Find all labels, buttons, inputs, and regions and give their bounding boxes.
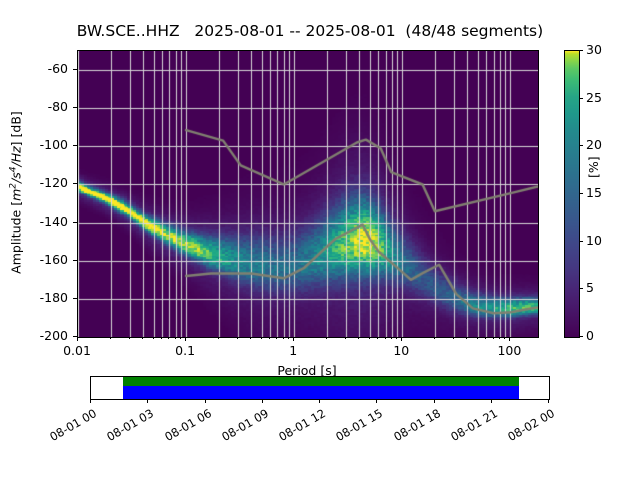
x-axis-major-tick: [185, 337, 186, 341]
timeline-tick-label: 08-01 18: [382, 406, 443, 449]
timeline-tick-mark: [147, 399, 148, 403]
colorbar-tick-mark: [579, 50, 583, 51]
timeline-tick-mark: [548, 399, 549, 403]
timeline-tick-mark: [205, 399, 206, 403]
y-axis-tick-mark: [73, 260, 77, 261]
timeline-tick-label: 08-01 03: [96, 406, 157, 449]
colorbar-tick-mark: [579, 336, 583, 337]
x-axis-minor-tick: [237, 337, 238, 339]
x-axis-major-tick: [293, 337, 294, 341]
timeline-tick-label: 08-01 06: [153, 406, 214, 449]
x-axis-tick-label: 0.1: [145, 343, 225, 358]
x-axis-minor-tick: [377, 337, 378, 339]
y-axis-tick-label: -60: [0, 61, 68, 76]
timeline-tick-label: 08-02 00: [496, 406, 557, 449]
x-axis-minor-tick: [153, 337, 154, 339]
data-coverage-timeline: [90, 376, 550, 400]
colorbar-tick-label: 20: [586, 137, 602, 152]
x-axis-tick-label: 10: [361, 343, 441, 358]
x-axis-minor-tick: [466, 337, 467, 339]
x-axis-minor-tick: [434, 337, 435, 339]
x-axis-major-tick: [77, 337, 78, 341]
x-axis-minor-tick: [453, 337, 454, 339]
y-axis-tick-mark: [73, 222, 77, 223]
x-axis-minor-tick: [269, 337, 270, 339]
x-axis-minor-tick: [168, 337, 169, 339]
timeline-band-blue: [123, 386, 519, 399]
colorbar-tick-mark: [579, 288, 583, 289]
x-axis-minor-tick: [358, 337, 359, 339]
colorbar: [564, 50, 580, 338]
colorbar-tick-mark: [579, 98, 583, 99]
timeline-tick-mark: [90, 399, 91, 403]
timeline-tick-label: 08-01 00: [38, 406, 99, 449]
x-axis-minor-tick: [218, 337, 219, 339]
colorbar-tick-label: 30: [586, 42, 602, 57]
x-axis-minor-tick: [261, 337, 262, 339]
timeline-tick-label: 08-01 12: [267, 406, 328, 449]
x-axis-minor-tick: [369, 337, 370, 339]
x-axis-minor-tick: [504, 337, 505, 339]
x-axis-tick-label: 1: [253, 343, 333, 358]
colorbar-tick-mark: [579, 241, 583, 242]
timeline-tick-mark: [319, 399, 320, 403]
timeline-band-green: [123, 377, 519, 386]
y-axis-tick-mark: [73, 69, 77, 70]
x-axis-minor-tick: [499, 337, 500, 339]
x-axis-minor-tick: [385, 337, 386, 339]
colorbar-tick-label: 5: [586, 280, 594, 295]
x-axis-major-tick: [401, 337, 402, 341]
timeline-tick-label: 08-01 15: [325, 406, 386, 449]
colorbar-tick-label: 0: [586, 328, 594, 343]
y-axis-tick-mark: [73, 107, 77, 108]
x-axis-minor-tick: [142, 337, 143, 339]
x-axis-minor-tick: [161, 337, 162, 339]
timeline-tick-label: 08-01 09: [210, 406, 271, 449]
y-axis-tick-label: -200: [0, 328, 68, 343]
y-axis-tick-mark: [73, 298, 77, 299]
page-title: BW.SCE..HHZ 2025-08-01 -- 2025-08-01 (48…: [0, 22, 620, 40]
x-axis-minor-tick: [180, 337, 181, 339]
ppsd-plot-area: [77, 50, 539, 338]
x-axis-minor-tick: [288, 337, 289, 339]
x-axis-minor-tick: [326, 337, 327, 339]
x-axis-minor-tick: [283, 337, 284, 339]
colorbar-label: [%]: [586, 156, 601, 178]
x-axis-minor-tick: [129, 337, 130, 339]
y-axis-tick-mark: [73, 145, 77, 146]
colorbar-tick-label: 15: [586, 185, 602, 200]
colorbar-tick-mark: [579, 193, 583, 194]
y-axis-label: Amplitude [m2/s4/Hz] [dB]: [9, 83, 24, 303]
y-axis-tick-mark: [73, 183, 77, 184]
x-axis-minor-tick: [276, 337, 277, 339]
x-axis-minor-tick: [477, 337, 478, 339]
timeline-tick-mark: [262, 399, 263, 403]
x-axis-minor-tick: [110, 337, 111, 339]
x-axis-minor-tick: [485, 337, 486, 339]
timeline-tick-label: 08-01 21: [439, 406, 500, 449]
x-axis-tick-label: 0.01: [37, 343, 117, 358]
x-axis-minor-tick: [345, 337, 346, 339]
x-axis-minor-tick: [250, 337, 251, 339]
x-axis-major-tick: [509, 337, 510, 341]
timeline-tick-mark: [491, 399, 492, 403]
peterson-noise-model-curves: [78, 51, 538, 337]
x-axis-minor-tick: [391, 337, 392, 339]
x-axis-minor-tick: [493, 337, 494, 339]
colorbar-tick-mark: [579, 145, 583, 146]
x-axis-tick-label: 100: [469, 343, 549, 358]
timeline-tick-mark: [376, 399, 377, 403]
x-axis-minor-tick: [396, 337, 397, 339]
timeline-tick-mark: [434, 399, 435, 403]
colorbar-tick-label: 10: [586, 233, 602, 248]
colorbar-tick-label: 25: [586, 90, 602, 105]
x-axis-minor-tick: [175, 337, 176, 339]
